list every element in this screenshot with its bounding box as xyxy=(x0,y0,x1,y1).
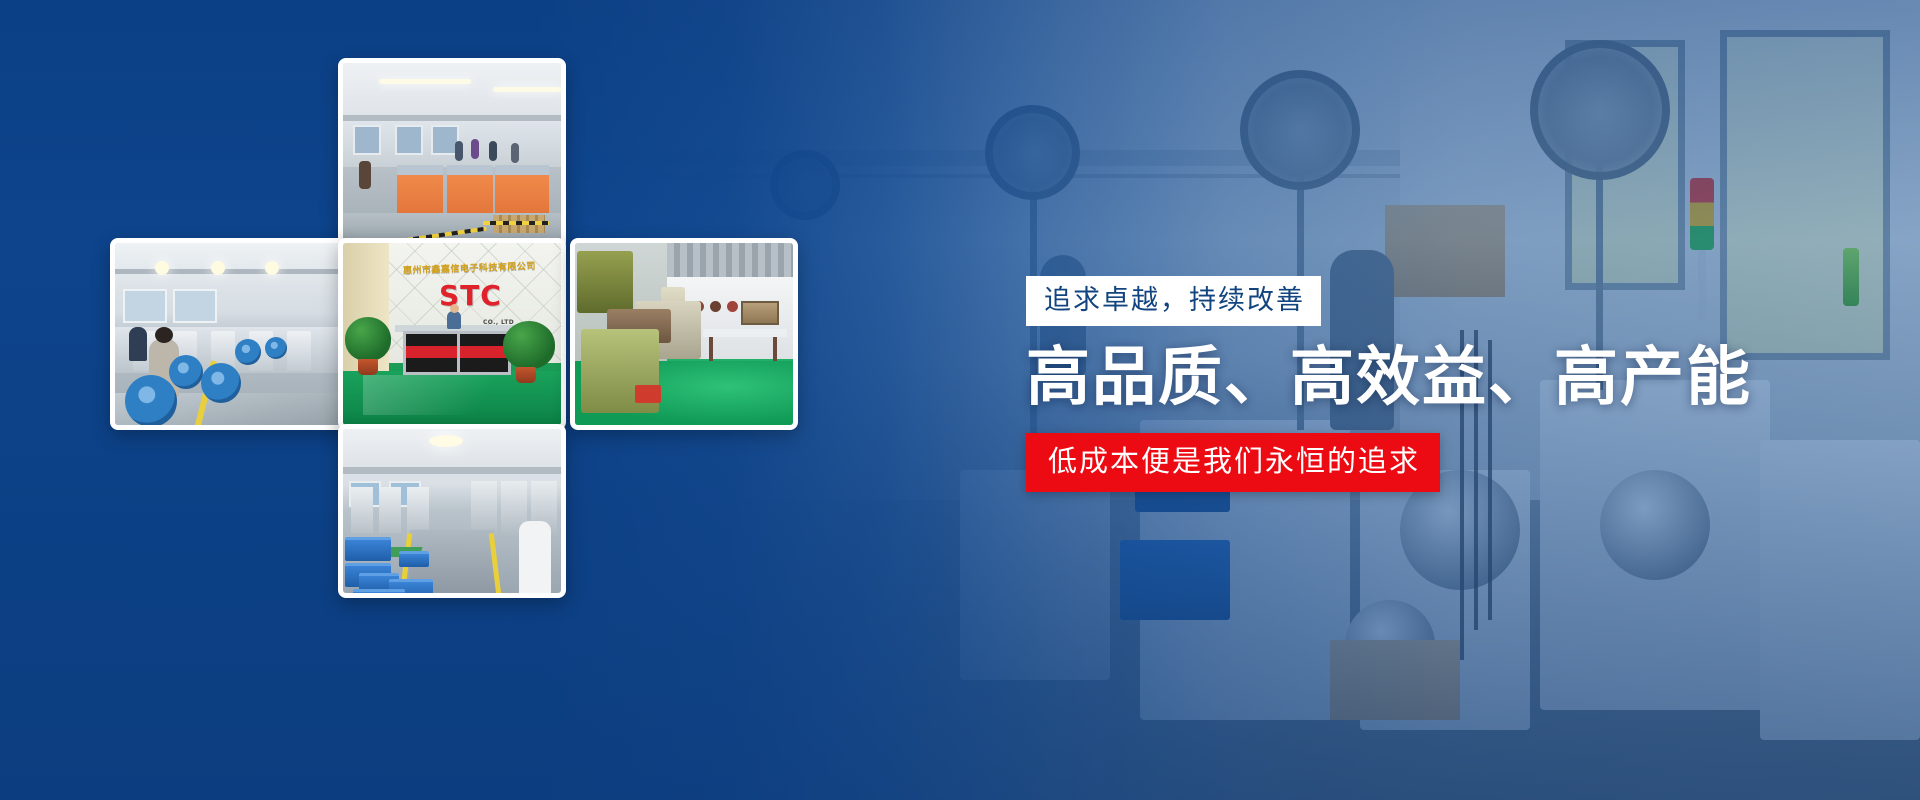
hero-kicker: 追求卓越，持续改善 xyxy=(1026,276,1321,326)
photo-collage: 惠州市鑫嘉信电子科技有限公司 STC CO., LTD xyxy=(110,58,800,598)
collage-photo-right[interactable] xyxy=(570,238,798,430)
collage-photo-center-reception[interactable]: 惠州市鑫嘉信电子科技有限公司 STC CO., LTD xyxy=(338,238,566,430)
hero-banner: 惠州市鑫嘉信电子科技有限公司 STC CO., LTD xyxy=(0,0,1920,800)
scene-machine-shop xyxy=(575,243,793,425)
scene-workshop-office xyxy=(343,63,561,245)
stc-logo-text: STC xyxy=(439,279,502,312)
hero-headline: 高品质、高效益、高产能 xyxy=(1026,344,1646,413)
scene-reception-stc: 惠州市鑫嘉信电子科技有限公司 STC CO., LTD xyxy=(343,243,561,425)
scene-production-aisle xyxy=(343,429,561,593)
collage-photo-bottom[interactable] xyxy=(338,424,566,598)
collage-photo-top[interactable] xyxy=(338,58,566,250)
hero-cta-bar: 低成本便是我们永恒的追求 xyxy=(1026,433,1440,492)
hero-copy-block: 追求卓越，持续改善 高品质、高效益、高产能 低成本便是我们永恒的追求 xyxy=(1026,276,1646,492)
collage-photo-left[interactable] xyxy=(110,238,350,430)
scene-production-line xyxy=(115,243,345,425)
